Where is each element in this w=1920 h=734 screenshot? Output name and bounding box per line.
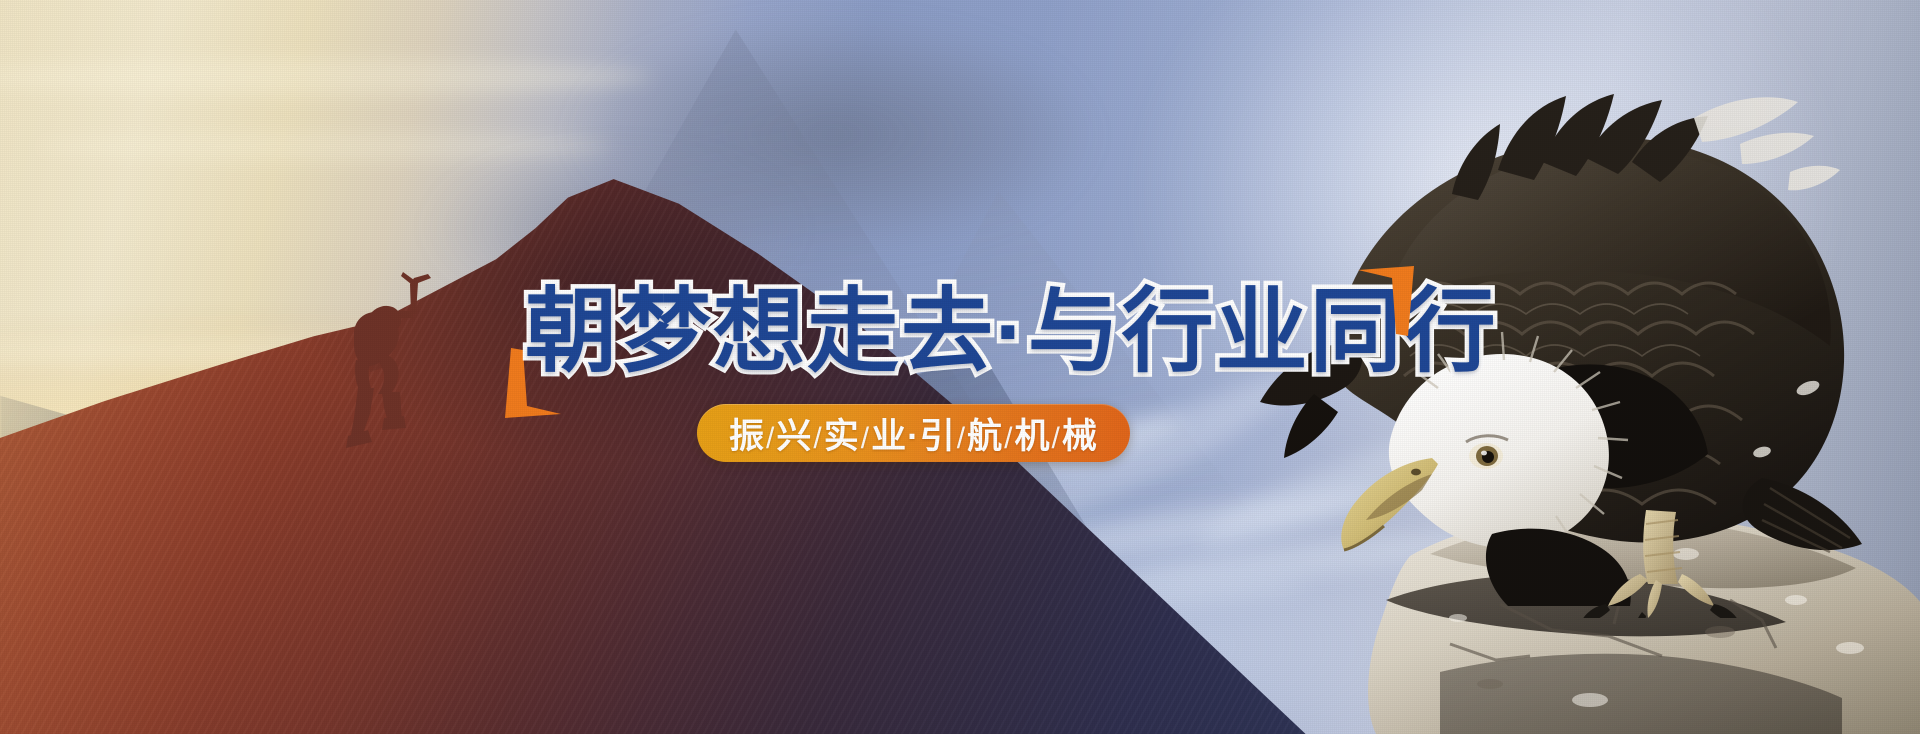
eagle-illustration [1210, 58, 1920, 734]
bald-eagle-icon [1242, 58, 1902, 618]
climber-silhouette-icon [310, 268, 450, 458]
hero-banner: 朝梦想走去·与行业同行 振/兴/实/业·引/航/机/械 [0, 0, 1920, 734]
